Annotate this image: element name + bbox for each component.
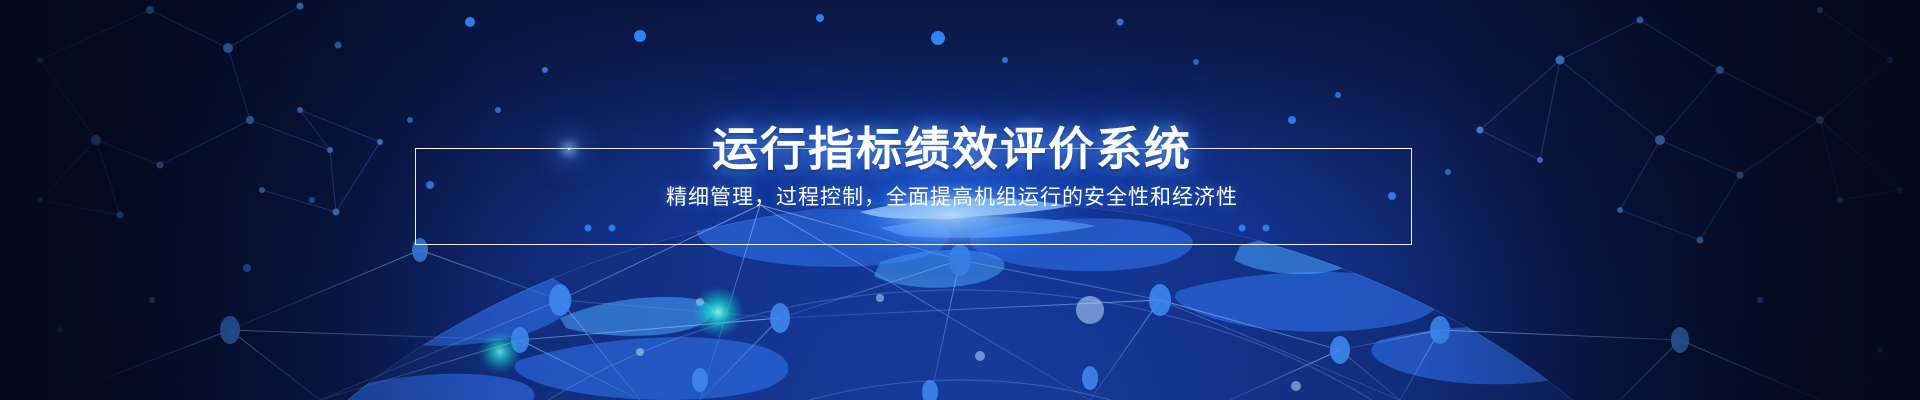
- banner-content: 运行指标绩效评价系统 精细管理，过程控制，全面提高机组运行的安全性和经济性: [0, 0, 1920, 400]
- hero-banner: 运行指标绩效评价系统 精细管理，过程控制，全面提高机组运行的安全性和经济性: [0, 0, 1920, 400]
- banner-title-text: 运行指标绩效评价系统: [712, 119, 1192, 179]
- banner-subtitle: 精细管理，过程控制，全面提高机组运行的安全性和经济性: [0, 181, 1920, 215]
- banner-subtitle-text: 精细管理，过程控制，全面提高机组运行的安全性和经济性: [666, 181, 1238, 215]
- banner-title: 运行指标绩效评价系统: [0, 119, 1920, 179]
